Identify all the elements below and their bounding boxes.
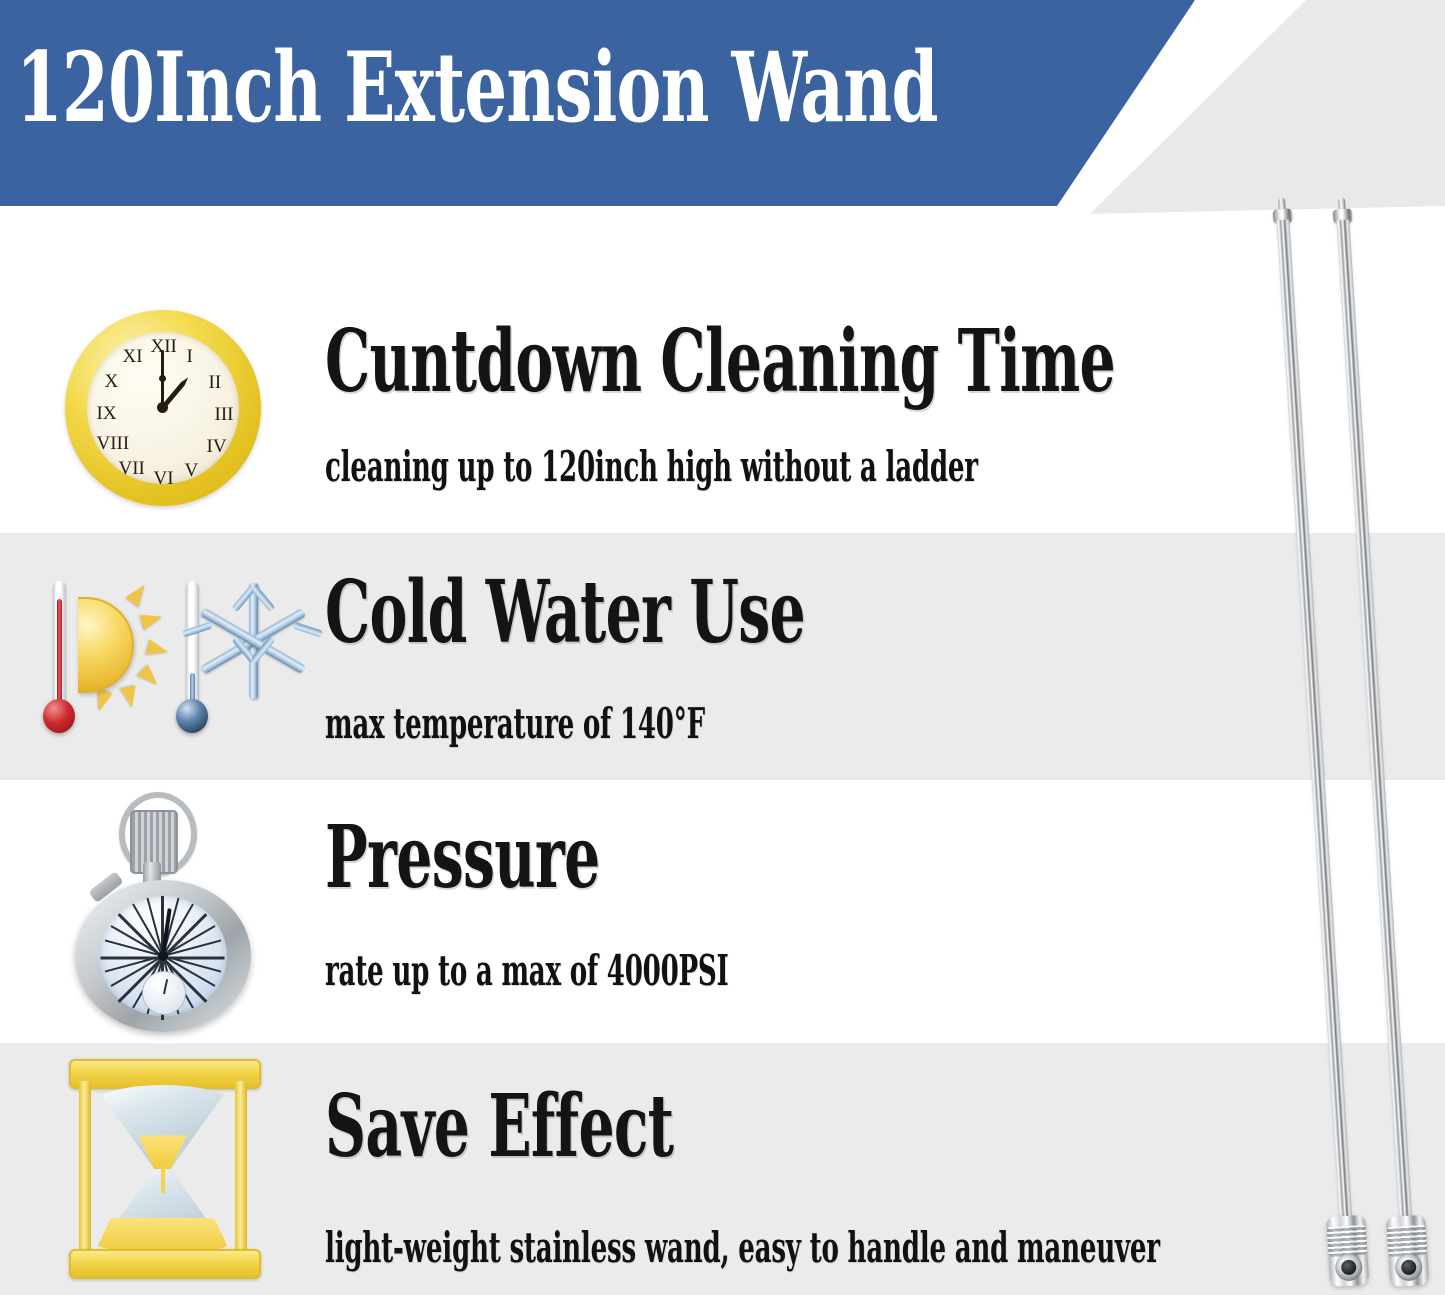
feature-row-cold-water: Cold Water Use max temperature of 140°F xyxy=(0,533,1140,780)
feature-row-countdown: XII I II III IV V VI VII VIII IX X XI xyxy=(0,282,1140,533)
feature-subtitle: light-weight stainless wand, easy to han… xyxy=(325,1225,1160,1271)
clock-numeral: I xyxy=(187,346,193,368)
sun-ray xyxy=(139,608,164,629)
hourglass-bottom-cap xyxy=(69,1249,261,1279)
wand-coupler-hub xyxy=(1334,1253,1363,1282)
sun-ray xyxy=(145,639,169,660)
thermometer-bulb xyxy=(43,699,75,733)
feature-title: Pressure xyxy=(325,812,863,904)
feature-icon-cell xyxy=(0,780,325,1043)
clock-face: XII I II III IV V VI VII VIII IX X XI xyxy=(87,332,239,484)
hourglass-lower-sand xyxy=(95,1218,231,1253)
stopwatch-case xyxy=(75,880,251,1032)
sun-disc xyxy=(78,597,134,693)
stopwatch-subdial xyxy=(142,971,186,1015)
hourglass-icon xyxy=(63,1059,263,1279)
thermometer-sun-snowflake-icon xyxy=(38,559,288,755)
hourglass-upper-sand xyxy=(95,1135,231,1169)
feature-icon-cell: XII I II III IV V VI VII VIII IX X XI xyxy=(0,282,325,533)
hourglass-sand-stream xyxy=(161,1166,165,1193)
infographic-page: 120Inch Extension Wand XII I II III IV V… xyxy=(0,0,1445,1295)
wand-quick-connect-coupler xyxy=(1386,1215,1429,1287)
clock-numeral: VII xyxy=(119,458,145,480)
roman-numeral-clock-icon: XII I II III IV V VI VII VIII IX X XI xyxy=(65,310,261,506)
sun-ray xyxy=(119,685,139,709)
stopwatch-tick xyxy=(101,956,163,959)
hourglass-glass xyxy=(95,1085,231,1253)
wand-quick-connect-coupler xyxy=(1326,1215,1369,1287)
clock-upper-pin xyxy=(159,375,166,382)
feature-icon-cell xyxy=(0,533,325,780)
feature-title: Save Effect xyxy=(325,1081,1214,1173)
clock-numeral: IV xyxy=(207,436,227,458)
sun-ray xyxy=(91,689,112,714)
clock-numeral: IX xyxy=(97,403,117,425)
feature-subtitle: rate up to a max of 4000PSI xyxy=(325,948,830,994)
feature-row-save-effect: Save Effect light-weight stainless wand,… xyxy=(0,1043,1140,1295)
clock-numeral: VI xyxy=(154,468,174,490)
clock-numeral: II xyxy=(209,372,222,394)
clock-numeral: VIII xyxy=(97,433,130,455)
sun-ray xyxy=(125,580,150,606)
hourglass-post xyxy=(235,1081,247,1257)
clock-numeral: III xyxy=(215,404,234,426)
clock-numeral: V xyxy=(185,460,199,482)
sun-ray xyxy=(136,664,162,690)
product-image-extension-wands xyxy=(1140,198,1445,1295)
feature-subtitle: max temperature of 140°F xyxy=(325,701,830,747)
hourglass-upper-bulb xyxy=(95,1085,231,1169)
page-title: 120Inch Extension Wand xyxy=(16,36,938,140)
clock-numeral: X xyxy=(105,371,119,393)
feature-row-pressure: Pressure rate up to a max of 4000PSI xyxy=(0,780,1140,1043)
wand-coupler-hub xyxy=(1394,1253,1423,1282)
clock-numeral: XI xyxy=(123,346,143,368)
clock-center-pin xyxy=(157,402,168,413)
feature-title: Cuntdown Cleaning Time xyxy=(325,316,1115,408)
stopwatch-dial xyxy=(99,896,227,1016)
feature-text-cell: Cold Water Use max temperature of 140°F xyxy=(325,533,1140,747)
feature-title: Cold Water Use xyxy=(325,567,863,659)
snowflake-twig xyxy=(292,621,323,637)
hourglass-post xyxy=(79,1081,91,1257)
thermometer-bulb xyxy=(176,699,208,733)
feature-subtitle: cleaning up to 120inch high without a la… xyxy=(325,444,1067,490)
header-banner: 120Inch Extension Wand xyxy=(0,0,1250,206)
stopwatch-center-pin xyxy=(158,951,168,961)
thermometer-mercury xyxy=(57,599,62,711)
feature-icon-cell xyxy=(0,1043,325,1295)
stopwatch-icon xyxy=(63,788,263,1036)
snowflake-icon xyxy=(206,577,302,705)
sun-icon xyxy=(78,587,170,697)
feature-text-cell: Pressure rate up to a max of 4000PSI xyxy=(325,780,1140,994)
